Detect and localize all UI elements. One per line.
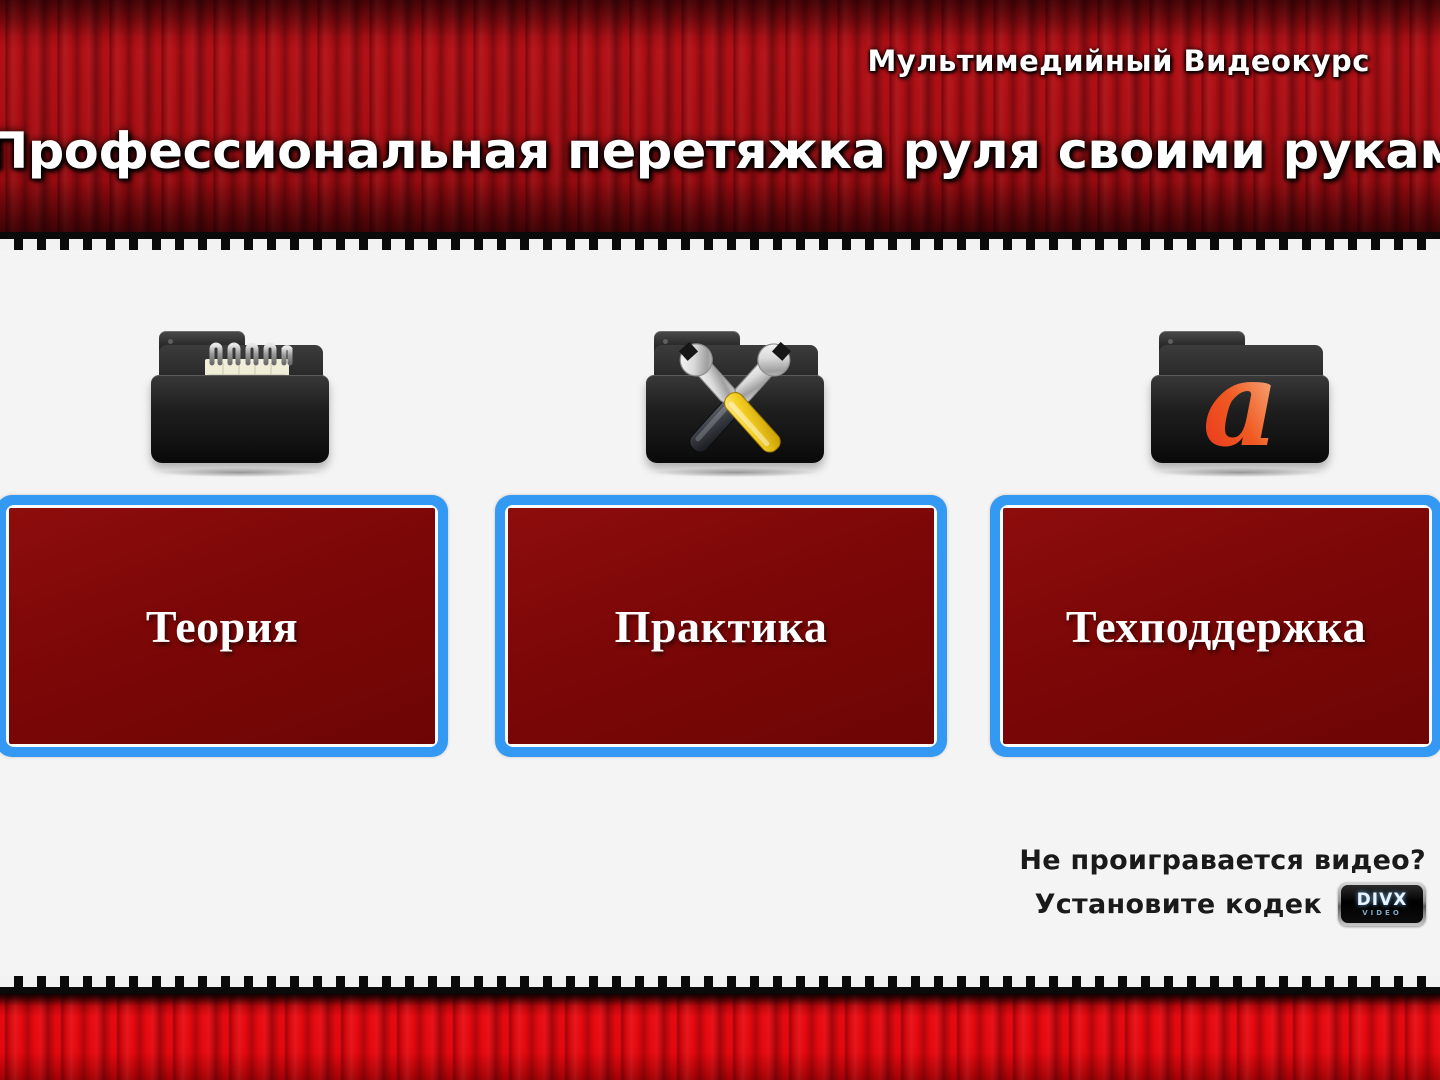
folder-calendar-clock-icon: [145, 323, 335, 473]
folder-front-panel: [1151, 375, 1329, 463]
divx-logo-core: DIVX VIDEO: [1341, 885, 1423, 923]
folder-drop-shadow: [1159, 468, 1321, 477]
footer-curtain-background: [0, 994, 1440, 1080]
icon-cell-theory: [140, 315, 340, 480]
button-face: Теория: [9, 508, 435, 744]
menu-button-label: Теория: [146, 600, 298, 653]
codec-notice-line-2: Установите кодек: [1035, 889, 1322, 920]
menu-button-support[interactable]: Техподдержка: [990, 495, 1440, 757]
codec-notice-line-1: Не проигравается видео?: [1019, 845, 1426, 876]
folder-drop-shadow: [654, 468, 816, 477]
icon-cell-practice: [635, 315, 835, 480]
menu-button-label: Техподдержка: [1066, 600, 1366, 653]
divx-logo-text: DIVX: [1357, 892, 1408, 908]
codec-notice: Не проигравается видео? Установите кодек…: [1019, 845, 1426, 926]
icon-cell-support: a: [1140, 315, 1340, 480]
folder-front-panel: [646, 375, 824, 463]
folder-icon-row: a: [0, 315, 1440, 480]
course-kicker-label: Мультимедийный Видеокурс: [867, 44, 1370, 78]
folder-front-panel: [151, 375, 329, 463]
film-sprocket-strip-bottom: [0, 976, 1440, 994]
divx-logo-subtext: VIDEO: [1362, 909, 1402, 917]
main-menu-buttons: Теория Практика Техподдержка: [0, 495, 1440, 760]
folder-tools-icon: [640, 323, 830, 473]
header-curtain-shading: [0, 0, 1440, 232]
sprocket-holes-bottom: [0, 976, 1440, 987]
menu-button-label: Практика: [615, 600, 828, 653]
codec-notice-row-2: Установите кодек DIVX VIDEO: [1035, 882, 1426, 926]
header-curtain-background: [0, 0, 1440, 232]
folder-letter-a-icon: a: [1145, 323, 1335, 473]
sprocket-holes-top: [0, 239, 1440, 250]
page-title: Профессиональная перетяжка руля своими р…: [0, 122, 1440, 180]
menu-button-practice[interactable]: Практика: [495, 495, 947, 757]
film-sprocket-strip-top: [0, 232, 1440, 250]
menu-button-theory[interactable]: Теория: [0, 495, 448, 757]
footer-curtain-shading: [0, 994, 1440, 1080]
video-course-menu-screen: Мультимедийный Видеокурс Профессиональна…: [0, 0, 1440, 1080]
divx-video-logo-icon[interactable]: DIVX VIDEO: [1338, 882, 1426, 926]
folder-drop-shadow: [159, 468, 321, 477]
button-face: Практика: [508, 508, 934, 744]
button-face: Техподдержка: [1003, 508, 1429, 744]
